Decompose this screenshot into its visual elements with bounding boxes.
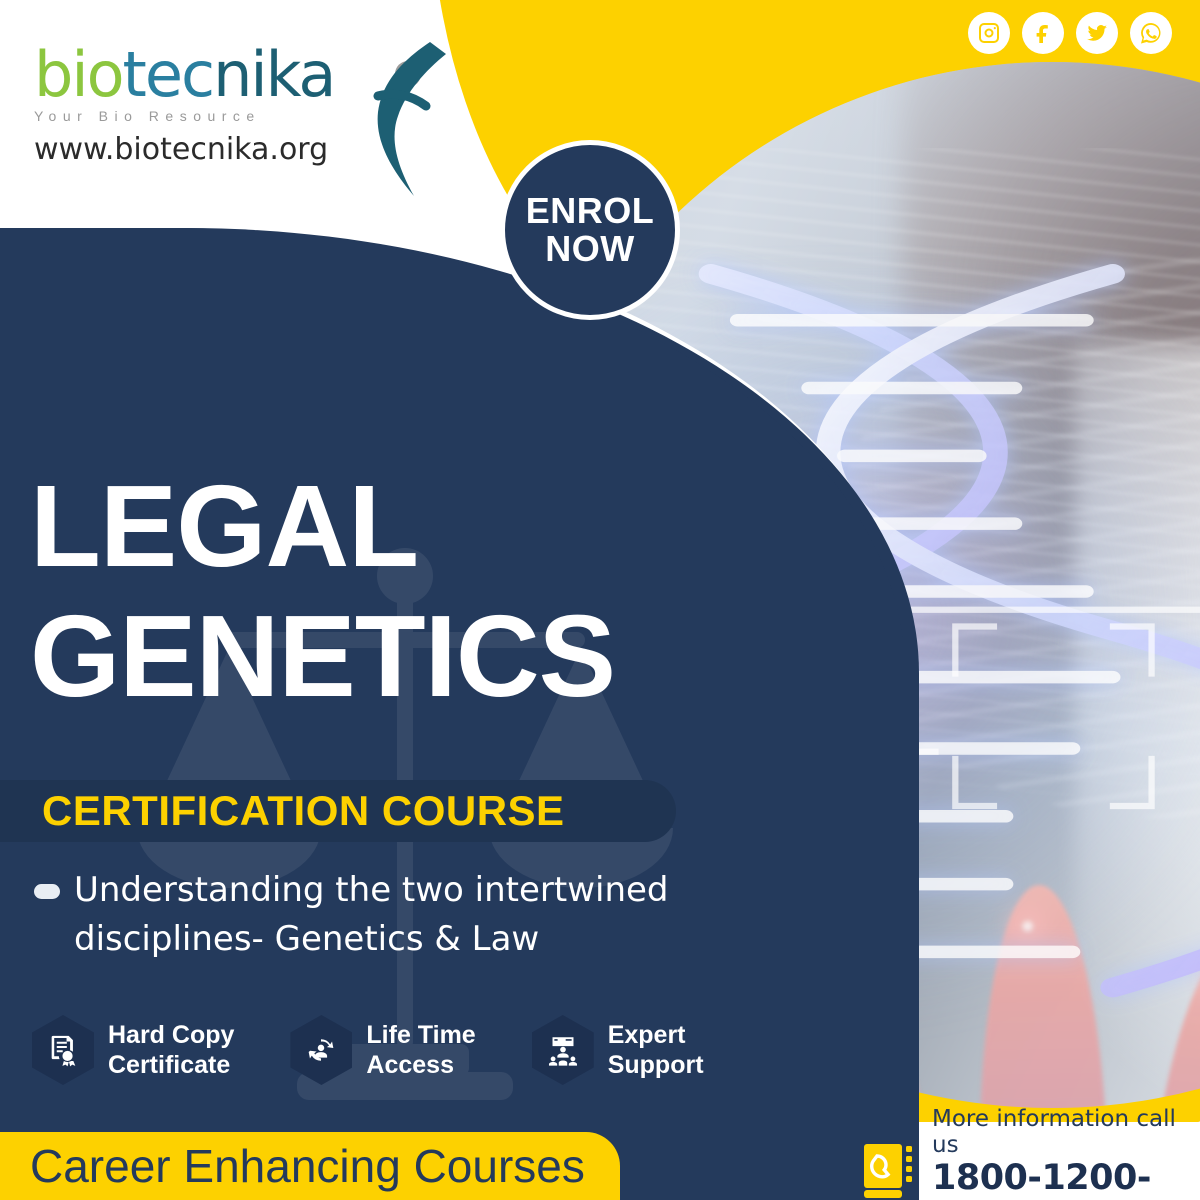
logo-text-bio: bio [34, 38, 123, 111]
logo-text-k: k [266, 38, 299, 111]
facebook-icon[interactable] [1022, 12, 1064, 54]
instagram-icon[interactable] [968, 12, 1010, 54]
feature-label: Life Time Access [366, 1020, 475, 1081]
logo-wordmark: biotecnika [34, 44, 334, 106]
logo-text-tec: tec [123, 38, 214, 111]
contact-prompt: More information call us [932, 1106, 1200, 1159]
social-links[interactable] [968, 12, 1172, 54]
enrol-line1: ENROL [526, 192, 655, 230]
lifetime-access-icon [290, 1015, 352, 1085]
phonebook-icon [862, 1142, 916, 1200]
contact-phone-number[interactable]: 1800-1200-1818 [932, 1159, 1200, 1200]
feature-life-time-access: Life Time Access [290, 1015, 475, 1085]
logo-text-ni: ni [213, 38, 266, 111]
feature-label: Hard Copy Certificate [108, 1020, 234, 1081]
feature-list: Hard Copy Certificate Life Time Access E… [32, 1015, 704, 1085]
course-subtitle-band: CERTIFICATION COURSE [0, 780, 676, 842]
enrol-line2: NOW [545, 230, 634, 268]
logo-human-figure-icon [334, 36, 474, 206]
course-description-text: Understanding the two intertwined discip… [74, 866, 734, 964]
contact-info[interactable]: More information call us 1800-1200-1818 [862, 1106, 1200, 1200]
logo-website: www.biotecnika.org [34, 132, 334, 167]
bullet-dot-icon [34, 884, 60, 899]
twitter-icon[interactable] [1076, 12, 1118, 54]
career-banner: Career Enhancing Courses [0, 1132, 620, 1200]
career-banner-text: Career Enhancing Courses [30, 1139, 585, 1193]
feature-expert-support: Expert Support [532, 1015, 704, 1085]
expert-support-icon [532, 1015, 594, 1085]
brand-logo[interactable]: biotecnika Your Bio Resource www.biotecn… [34, 44, 334, 167]
page-title: LEGAL GENETICS [30, 470, 615, 713]
logo-text-a: a [298, 38, 334, 111]
course-description: Understanding the two intertwined discip… [34, 866, 734, 964]
enrol-now-button[interactable]: ENROL NOW [500, 140, 680, 320]
headline-line-1: LEGAL [30, 470, 615, 584]
feature-hard-copy-certificate: Hard Copy Certificate [32, 1015, 234, 1085]
feature-label: Expert Support [608, 1020, 704, 1081]
headline-line-2: GENETICS [30, 600, 615, 714]
whatsapp-icon[interactable] [1130, 12, 1172, 54]
certificate-icon [32, 1015, 94, 1085]
poster-canvas: biotecnika Your Bio Resource www.biotecn… [0, 0, 1200, 1200]
course-subtitle: CERTIFICATION COURSE [42, 787, 565, 835]
